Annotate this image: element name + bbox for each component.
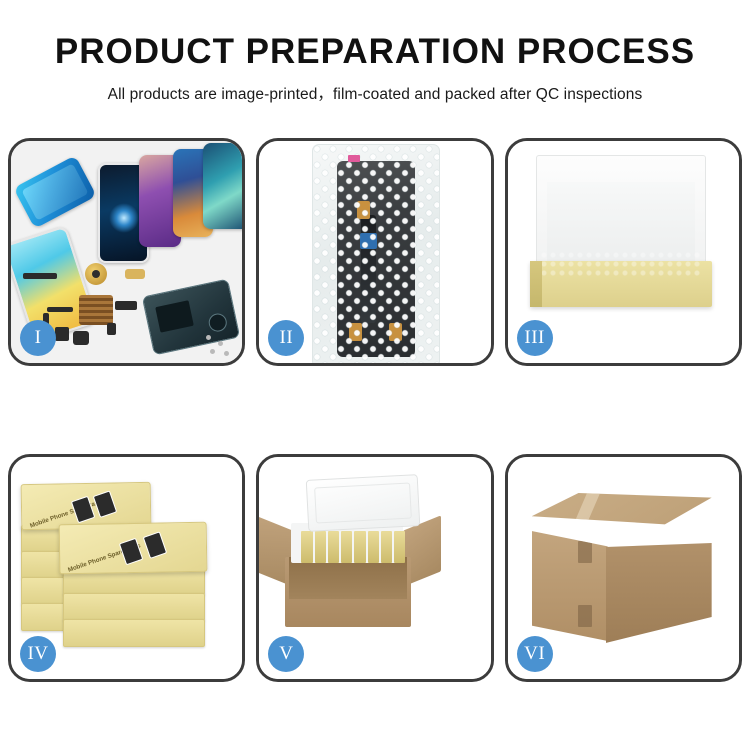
inner-box-1 (301, 531, 312, 563)
yellow-boxes-inside (301, 531, 405, 563)
box-stack: Mobile Phone Spare Parts Mobile Phone Sp… (19, 467, 225, 667)
product-preparation-infographic: PRODUCT PREPARATION PROCESS All products… (0, 0, 750, 750)
foam-lid-open (306, 474, 421, 532)
button-part (55, 327, 69, 341)
pink-label-sticker (348, 155, 360, 162)
vibrator-part (73, 331, 89, 345)
carton-right-face (606, 543, 712, 643)
phone-screen-blue-adhesive (13, 155, 96, 228)
inner-box-8 (394, 531, 405, 563)
bubble-wrap-bag (312, 144, 440, 363)
inner-box-5 (354, 531, 365, 563)
flex-cable-part-a (125, 269, 145, 279)
ic-chip-part (79, 295, 113, 325)
page-subtitle: All products are image-printed，film-coat… (0, 82, 750, 104)
carton-handle-tab-bottom (578, 605, 592, 627)
step-badge-1: I (20, 320, 56, 356)
connector-part-b (107, 323, 116, 335)
step-panel-5: V (256, 454, 493, 682)
yellow-box-base (530, 261, 712, 307)
step-panel-3: III (505, 138, 742, 366)
step-panel-6: VI (505, 454, 742, 682)
phone-screen-teal (203, 143, 242, 229)
header: PRODUCT PREPARATION PROCESS All products… (0, 0, 750, 104)
carton-interior (289, 557, 407, 599)
stacked-box-b3 (63, 619, 205, 647)
speaker-part (85, 263, 107, 285)
box-artwork-screen-1b (93, 490, 118, 518)
carton-front-wall (285, 557, 411, 627)
page-title: PRODUCT PREPARATION PROCESS (0, 34, 750, 69)
step-badge-4: IV (20, 636, 56, 672)
connector-part-a (115, 301, 137, 310)
inner-box-2 (315, 531, 326, 563)
open-carton (285, 519, 411, 627)
step-panel-1: I (8, 138, 245, 366)
box-artwork-screen-2b (143, 531, 168, 559)
sealed-carton (532, 493, 712, 645)
flex-cable-part-b (47, 307, 73, 312)
inner-box-4 (341, 531, 352, 563)
phone-screens-group (11, 141, 242, 270)
screws-group (206, 335, 236, 357)
inner-box-7 (381, 531, 392, 563)
bubble-texture (313, 145, 439, 363)
carton-handle-tab-top (578, 541, 592, 563)
step-panel-2: II (256, 138, 493, 366)
inner-box-3 (328, 531, 339, 563)
box-artwork-screen-2a (119, 538, 144, 566)
inner-box-6 (368, 531, 379, 563)
top-box-lid-2: Mobile Phone Spare Parts (59, 522, 208, 575)
step-panel-4: Mobile Phone Spare Parts Mobile Phone Sp… (8, 454, 245, 682)
step-badge-6: VI (517, 636, 553, 672)
box-artwork-screen-1a (71, 496, 96, 524)
stacked-box-b2 (63, 593, 205, 621)
steps-grid: I II III (8, 138, 742, 682)
carton-left-face (532, 531, 608, 641)
step-badge-3: III (517, 320, 553, 356)
earpiece-part (23, 273, 57, 279)
